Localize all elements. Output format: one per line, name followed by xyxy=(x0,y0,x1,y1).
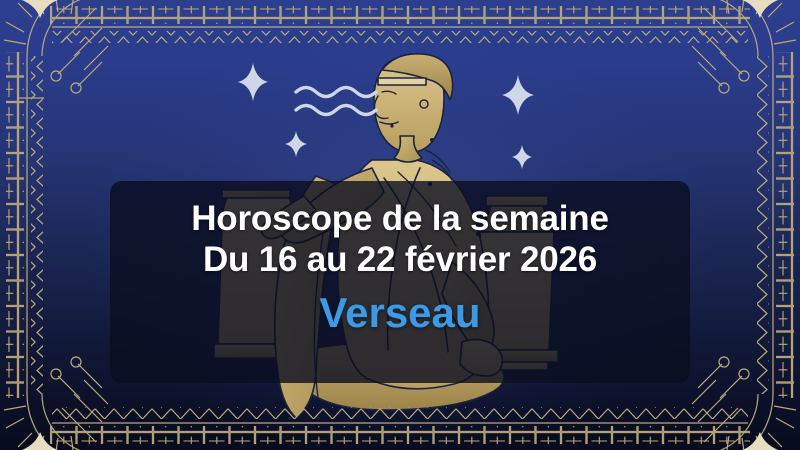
zodiac-sign-name: Verseau xyxy=(319,290,480,336)
date-range-label: Du 16 au 22 février 2026 xyxy=(203,240,597,281)
horoscope-banner: Horoscope de la semaine Du 16 au 22 févr… xyxy=(0,0,800,450)
page-title: Horoscope de la semaine xyxy=(191,199,609,240)
banner-text-block: Horoscope de la semaine Du 16 au 22 févr… xyxy=(110,181,690,383)
